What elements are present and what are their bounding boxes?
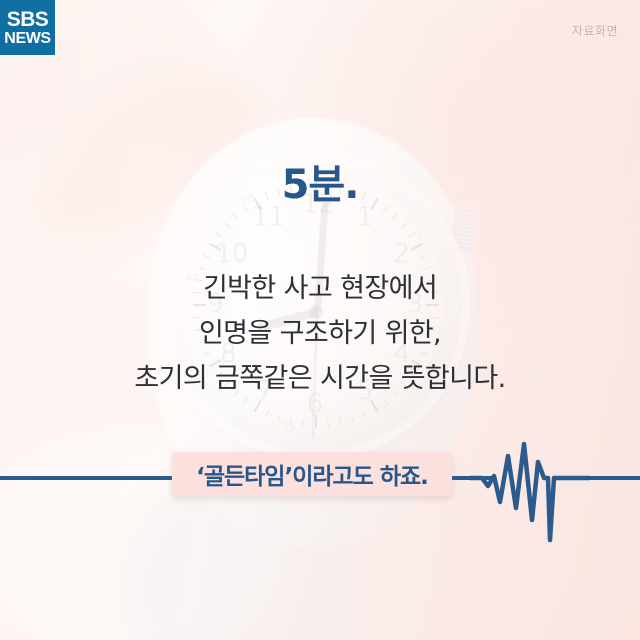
logo-network-text: SBS (7, 9, 48, 30)
heartbeat-waveform-icon (470, 400, 590, 560)
body-line: 인명을 구조하기 위한, (0, 311, 640, 356)
body-line: 긴박한 사고 현장에서 (0, 266, 640, 311)
body-text: 긴박한 사고 현장에서 인명을 구조하기 위한, 초기의 금쪽같은 시간을 뜻합… (0, 266, 640, 401)
caption-box: ‘골든타임’이라고도 하죠. (172, 452, 452, 496)
source-footage-label: 자료화면 (572, 22, 618, 39)
caption-text: ‘골든타임’이라고도 하죠. (196, 457, 428, 491)
sbs-news-logo[interactable]: SBS NEWS (0, 0, 55, 55)
logo-section-text: NEWS (4, 31, 50, 47)
headline: 5분. (0, 152, 640, 210)
news-card: 121234567891011555102025354050 SBS NEWS … (0, 0, 640, 640)
body-line: 초기의 금쪽같은 시간을 뜻합니다. (0, 356, 640, 401)
accent-rule-left (0, 476, 176, 480)
